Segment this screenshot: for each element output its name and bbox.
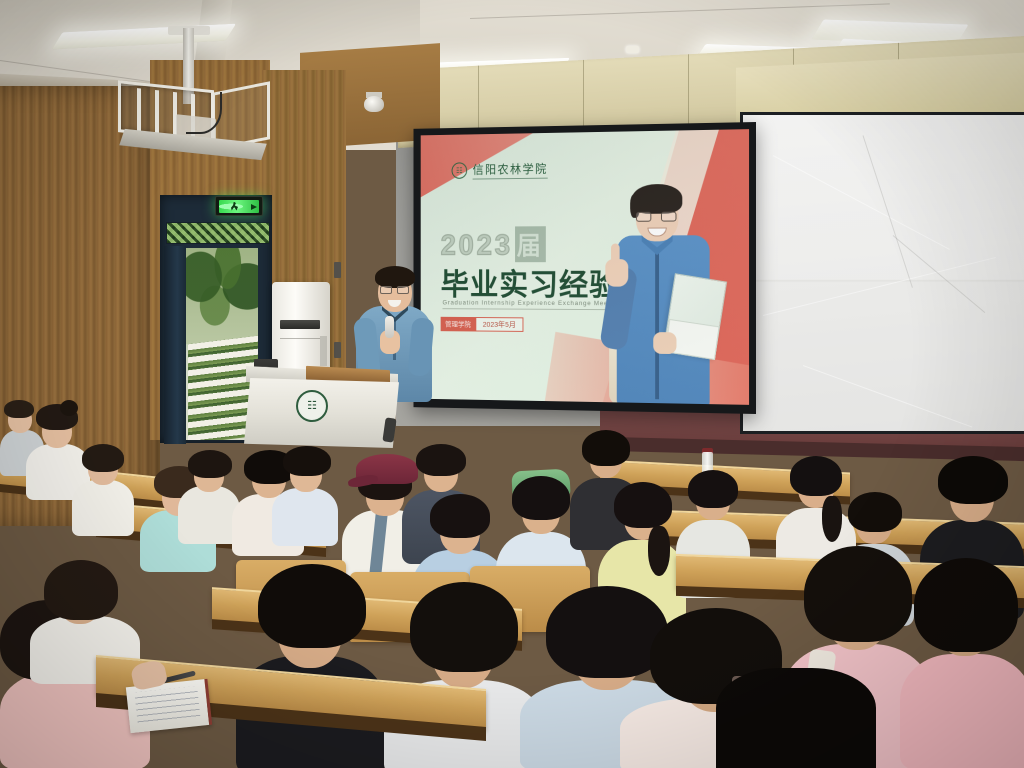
presentation-slide: ☷ 信阳农林学院 2023届 毕业实习经验交流会 Graduation Inte… xyxy=(421,129,749,405)
projection-screen: ☷ 信阳农林学院 2023届 毕业实习经验交流会 Graduation Inte… xyxy=(413,122,756,414)
list-item xyxy=(272,446,338,538)
school-emblem-icon: ☷ xyxy=(452,162,468,179)
list-item xyxy=(716,668,876,768)
slide-figure-glasses xyxy=(636,212,679,222)
handheld-microphone xyxy=(385,316,394,338)
door-panel[interactable] xyxy=(164,246,186,444)
podium-school-emblem: ☷ xyxy=(296,390,328,422)
arrow-right-icon xyxy=(251,204,257,210)
slide-school-logo: ☷ 信阳农林学院 xyxy=(452,160,548,180)
secondary-projection-screen xyxy=(740,112,1024,434)
slide-date-tag: 2023年5月 xyxy=(475,317,523,332)
running-person-icon xyxy=(231,202,238,211)
slide-student-figure xyxy=(603,173,731,404)
list-item xyxy=(384,580,542,768)
dome-security-camera-icon xyxy=(364,96,384,112)
outdoor-foliage xyxy=(186,248,258,344)
smoke-detector-icon xyxy=(626,46,639,53)
lecture-hall-photo: ☷ 信阳农林学院 2023届 毕业实习经验交流会 Graduation Inte… xyxy=(0,0,1024,768)
slide-year: 2023届 xyxy=(441,226,546,262)
school-name: 信阳农林学院 xyxy=(473,160,548,179)
slide-department-tag: 管理学院 xyxy=(441,317,476,332)
lattice-transom-window xyxy=(166,222,270,244)
podium-microphone-arm xyxy=(382,417,396,442)
ponytail xyxy=(648,526,670,576)
list-item xyxy=(900,556,1024,768)
list-item xyxy=(178,450,240,534)
slide-year-number: 2023 xyxy=(441,229,513,261)
list-item xyxy=(236,560,386,768)
slide-tag-group: 管理学院 2023年5月 xyxy=(441,317,524,332)
slide-year-suffix: 届 xyxy=(515,226,546,262)
list-item xyxy=(72,444,134,526)
emergency-exit-sign xyxy=(215,196,263,216)
hair-bun xyxy=(60,400,78,416)
